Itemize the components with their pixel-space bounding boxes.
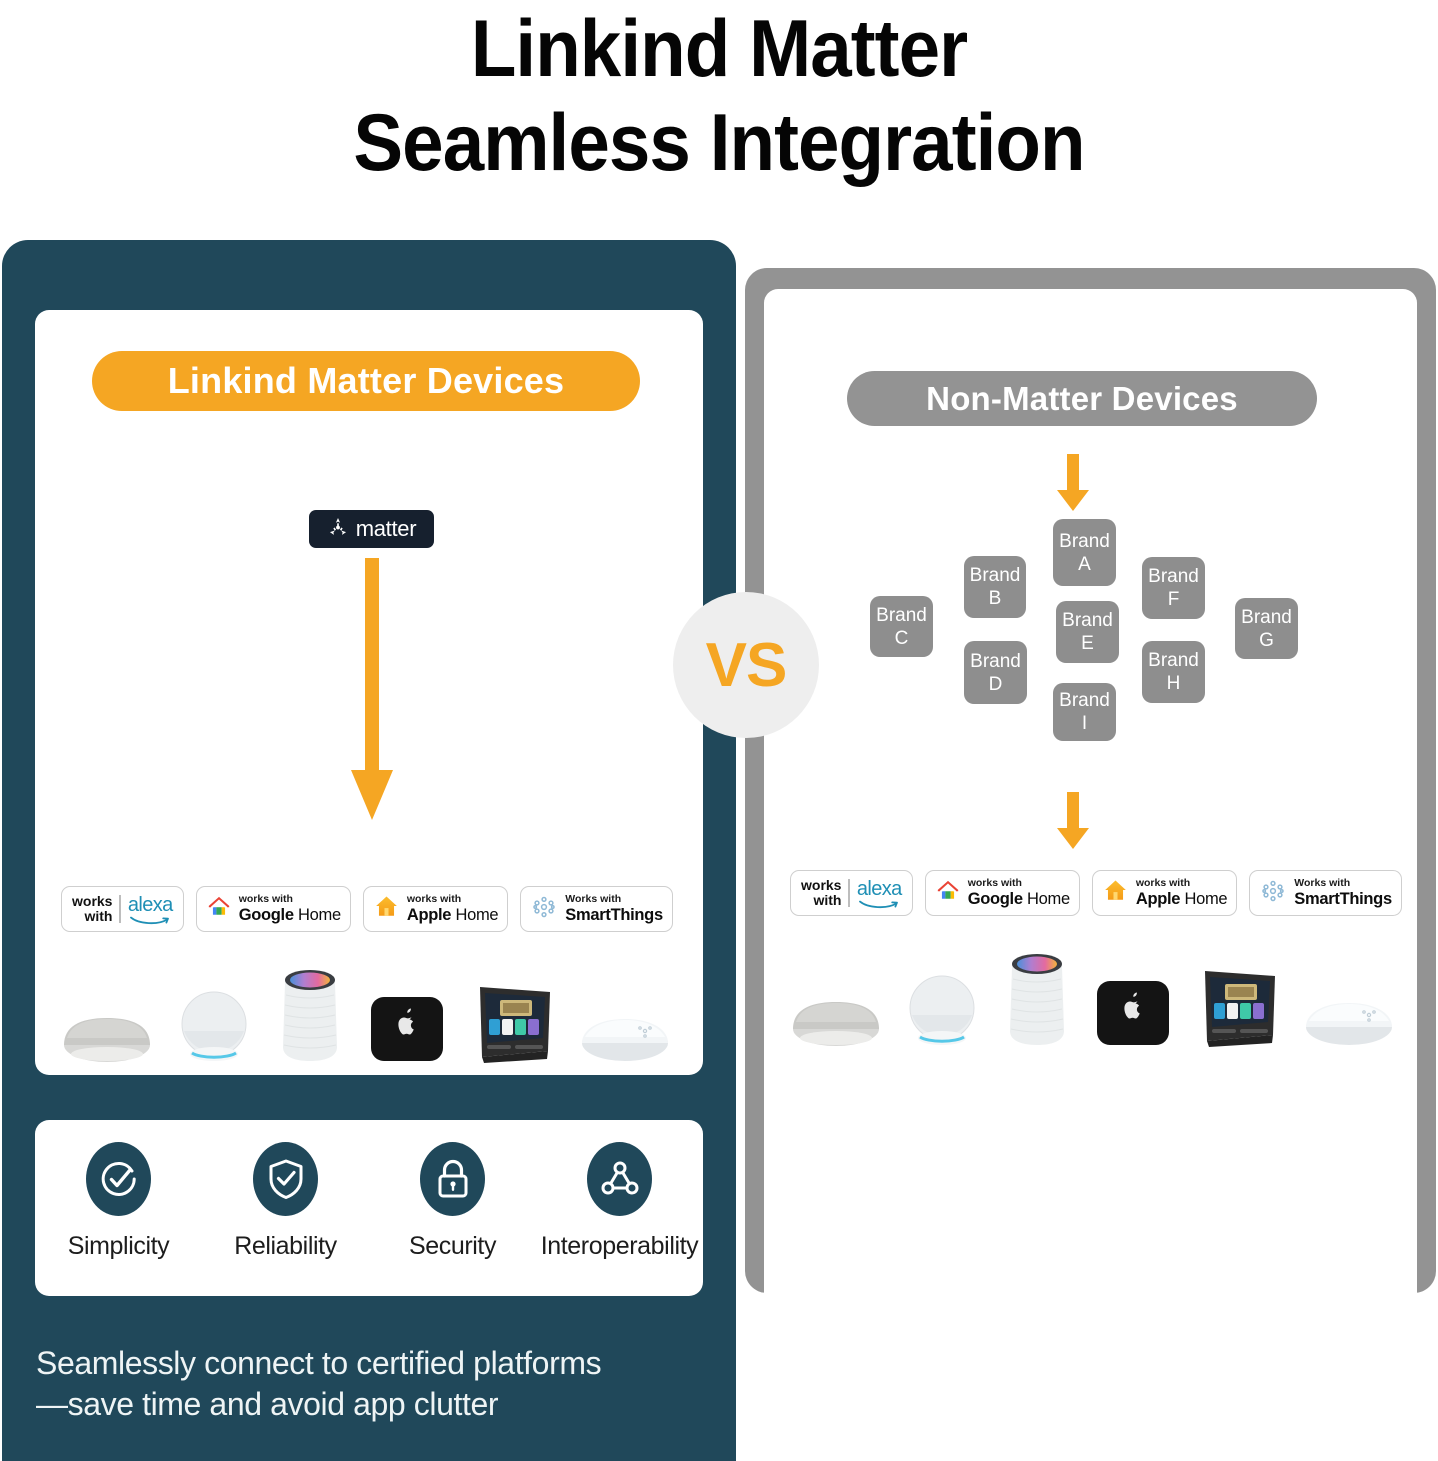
benefit-simplicity: Simplicity	[35, 1120, 202, 1296]
works-with-brand: SmartThings	[1294, 890, 1392, 908]
network-nodes-icon	[587, 1142, 652, 1216]
brand-tile-e: BrandE	[1056, 601, 1119, 663]
brand-tile-word: Brand	[1062, 609, 1113, 632]
benefit-label: Simplicity	[68, 1232, 170, 1261]
works-with-brand-bold: SmartThings	[1294, 890, 1392, 908]
badge-divider	[119, 895, 120, 923]
vs-badge: VS	[673, 592, 819, 738]
google-nest-mini-device	[61, 1005, 153, 1070]
works-with-text: workswith	[801, 878, 841, 909]
non-matter-heading-pill: Non-Matter Devices	[847, 371, 1317, 426]
works-with-text: works withGoogle Home	[239, 894, 341, 924]
non-matter-caption: Download and register separate apps for …	[772, 1120, 1412, 1202]
benefit-reliability: Reliability	[202, 1120, 369, 1296]
matter-panel: Linkind Matter Devices	[2, 240, 736, 1461]
works-with-brand-bold: Google	[968, 890, 1023, 908]
works-with-prefix: works with	[239, 894, 341, 906]
works-with-badge-alexa: workswithalexa	[61, 886, 184, 932]
brand-tile-letter: H	[1167, 672, 1181, 695]
brand-tile-f: BrandF	[1142, 557, 1205, 619]
works-with-brand-bold: SmartThings	[565, 906, 663, 924]
echo-dot-device	[176, 989, 252, 1070]
brand-tile-word: Brand	[876, 604, 927, 627]
brand-tile-word: Brand	[1148, 565, 1199, 588]
works-with-prefix: works with	[407, 894, 498, 906]
benefit-security: Security	[369, 1120, 536, 1296]
infographic-root: Linkind Matter Seamless Integration Non-…	[0, 0, 1438, 1461]
benefit-label: Interoperability	[541, 1232, 699, 1261]
works-with-brand-thin: Home	[1180, 890, 1227, 908]
brand-tile-h: BrandH	[1142, 641, 1205, 703]
works-with-brand: Google Home	[239, 906, 341, 924]
echo-show-device	[470, 983, 556, 1070]
works-with-brand: Apple Home	[1136, 890, 1227, 908]
down-arrow-icon-long	[348, 558, 396, 825]
brand-tile-word: Brand	[1059, 689, 1110, 712]
apple-tv-device	[1093, 977, 1173, 1054]
non-matter-heading-label: Non-Matter Devices	[926, 380, 1238, 418]
brand-tile-a: BrandA	[1053, 519, 1116, 586]
brand-tile-letter: C	[895, 627, 909, 650]
works-with-text: Works withSmartThings	[565, 894, 663, 924]
brand-tile-letter: A	[1078, 553, 1091, 576]
benefits-card: SimplicityReliabilitySecurityInteroperab…	[35, 1120, 703, 1296]
works-with-brand-bold: Apple	[407, 906, 451, 924]
brand-tile-letter: G	[1259, 629, 1274, 652]
works-with-line1: works	[801, 878, 841, 893]
page-title: Linkind Matter Seamless Integration	[58, 2, 1381, 190]
brand-tile-letter: B	[989, 587, 1002, 610]
works-with-badge-smartthings: Works withSmartThings	[520, 886, 673, 932]
matter-caption-line1: Seamlessly connect to certified platform…	[36, 1343, 726, 1384]
page-title-line2: Seamless Integration	[58, 96, 1381, 190]
smartthings-hub-device	[579, 1007, 671, 1070]
matter-heading-pill: Linkind Matter Devices	[92, 351, 640, 411]
brand-tile-letter: E	[1081, 632, 1094, 655]
echo-show-device	[1195, 967, 1281, 1054]
works-with-line1: works	[72, 894, 112, 909]
apple-home-icon	[1102, 877, 1129, 909]
vs-label: VS	[706, 630, 787, 701]
works-with-brand-thin: Home	[1023, 890, 1070, 908]
google-nest-mini-device	[790, 989, 882, 1054]
works-with-text: workswith	[72, 894, 112, 925]
check-circle-icon	[86, 1142, 151, 1216]
works-with-text: works withApple Home	[1136, 878, 1227, 908]
works-with-badge-alexa: workswithalexa	[790, 870, 913, 916]
matter-card: Linkind Matter Devices	[35, 310, 703, 1075]
works-with-prefix: Works with	[1294, 878, 1392, 890]
works-with-brand: SmartThings	[565, 906, 663, 924]
down-arrow-icon-bottom	[1051, 792, 1095, 854]
down-arrow-icon-top	[1051, 454, 1095, 516]
works-with-text: Works withSmartThings	[1294, 878, 1392, 908]
alexa-wordmark: alexa	[857, 878, 902, 901]
brand-tile-word: Brand	[970, 650, 1021, 673]
matter-logo-label: matter	[356, 516, 417, 542]
matter-logo-icon	[327, 516, 349, 543]
brand-tile-letter: F	[1168, 588, 1180, 611]
brand-tile-b: BrandB	[964, 556, 1026, 618]
works-with-badge-google-home: works withGoogle Home	[196, 886, 351, 932]
works-with-prefix: works with	[968, 878, 1070, 890]
works-with-text: works withApple Home	[407, 894, 498, 924]
google-home-icon	[206, 894, 232, 925]
brand-tile-g: BrandG	[1235, 598, 1298, 659]
alexa-wordmark: alexa	[128, 894, 173, 917]
brand-tile-letter: D	[989, 673, 1003, 696]
matter-caption-line2: —save time and avoid app clutter	[36, 1384, 726, 1425]
echo-dot-device	[904, 973, 980, 1054]
works-with-badge-apple-home: works withApple Home	[363, 886, 508, 932]
homepod-device	[275, 965, 345, 1070]
works-with-badge-google-home: works withGoogle Home	[925, 870, 1080, 916]
homepod-device	[1002, 949, 1072, 1054]
works-with-badge-apple-home: works withApple Home	[1092, 870, 1237, 916]
brand-tile-word: Brand	[1241, 606, 1292, 629]
brand-tile-i: BrandI	[1053, 683, 1116, 741]
benefits-row: SimplicityReliabilitySecurityInteroperab…	[35, 1120, 703, 1296]
works-with-line2: with	[801, 893, 841, 908]
apple-tv-device	[367, 993, 447, 1070]
google-home-icon	[935, 878, 961, 909]
device-photos-right	[790, 949, 1395, 1054]
works-with-brand-bold: Apple	[1136, 890, 1180, 908]
works-with-badges-left: workswithalexaworks withGoogle Homeworks…	[61, 886, 673, 932]
matter-caption: Seamlessly connect to certified platform…	[36, 1343, 726, 1425]
works-with-prefix: works with	[1136, 878, 1227, 890]
works-with-badges-right: workswithalexaworks withGoogle Homeworks…	[790, 870, 1402, 916]
brand-tile-d: BrandD	[964, 641, 1027, 704]
benefit-interoperability: Interoperability	[536, 1120, 703, 1296]
brand-tile-letter: I	[1082, 712, 1087, 735]
non-matter-caption-line2: for every new device—a repetitive hassle	[772, 1161, 1412, 1202]
works-with-text: works withGoogle Home	[968, 878, 1070, 908]
benefit-label: Reliability	[234, 1232, 337, 1261]
works-with-brand: Apple Home	[407, 906, 498, 924]
badge-divider	[848, 879, 849, 907]
works-with-prefix: Works with	[565, 894, 663, 906]
smartthings-icon	[530, 893, 558, 926]
smartthings-hub-device	[1303, 991, 1395, 1054]
brand-tile-c: BrandC	[870, 596, 933, 657]
shield-check-icon	[253, 1142, 318, 1216]
smartthings-icon	[1259, 877, 1287, 910]
works-with-badge-smartthings: Works withSmartThings	[1249, 870, 1402, 916]
matter-heading-label: Linkind Matter Devices	[168, 360, 565, 402]
non-matter-caption-line1: Download and register separate apps	[772, 1120, 1412, 1161]
works-with-brand-thin: Home	[451, 906, 498, 924]
brand-tile-word: Brand	[970, 564, 1021, 587]
works-with-brand: Google Home	[968, 890, 1070, 908]
device-photos-left	[61, 965, 671, 1070]
benefit-label: Security	[409, 1232, 496, 1261]
lock-icon	[420, 1142, 485, 1216]
works-with-brand-bold: Google	[239, 906, 294, 924]
alexa-icon: alexa	[128, 894, 173, 925]
apple-home-icon	[373, 893, 400, 925]
alexa-icon: alexa	[857, 878, 902, 909]
works-with-line2: with	[72, 909, 112, 924]
matter-logo-badge: matter	[309, 510, 434, 548]
page-title-line1: Linkind Matter	[58, 2, 1381, 96]
brand-tile-word: Brand	[1059, 530, 1110, 553]
brand-tile-word: Brand	[1148, 649, 1199, 672]
works-with-brand-thin: Home	[294, 906, 341, 924]
